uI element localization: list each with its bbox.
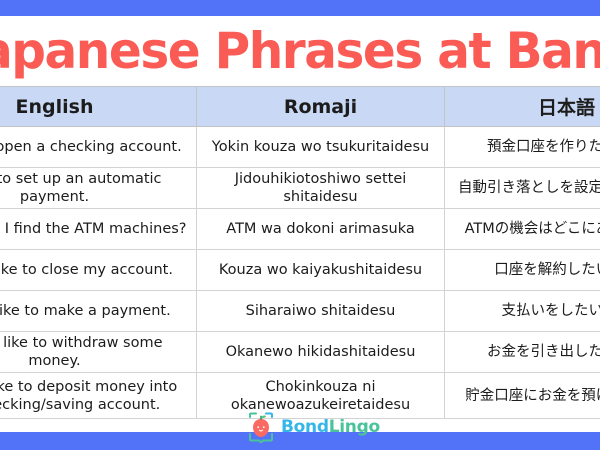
- apple-book-icon: [246, 411, 276, 443]
- phrases-table: English Romaji 日本語 I want to open a chec…: [0, 86, 600, 419]
- cell-japanese: 預金口座を作りたいです: [445, 127, 600, 168]
- cell-english: I would like to deposit money into my ch…: [0, 373, 197, 419]
- cell-japanese: 口座を解約したいです: [445, 250, 600, 291]
- logo-wordmark: BondLingo: [281, 417, 380, 437]
- table-row: I want to open a checking account. Yokin…: [0, 127, 600, 168]
- logo-wordmark-part1: Bond: [281, 417, 329, 437]
- cell-japanese: 自動引き落としを設定したいです: [445, 168, 600, 209]
- column-header-romaji: Romaji: [197, 87, 445, 127]
- cell-romaji: Jidouhikiotoshiwo settei shitaidesu: [197, 168, 445, 209]
- column-header-english: English: [0, 87, 197, 127]
- cell-english: I would like to make a payment.: [0, 291, 197, 332]
- infographic-page: Japanese Phrases at Bank English Romaji …: [0, 0, 600, 450]
- cell-romaji: Kouza wo kaiyakushitaidesu: [197, 250, 445, 291]
- column-header-japanese: 日本語: [445, 87, 600, 127]
- cell-romaji: ATM wa dokoni arimasuka: [197, 209, 445, 250]
- table-row: I want to set up an automatic payment. J…: [0, 168, 600, 209]
- cell-japanese: お金を引き出したいです: [445, 332, 600, 373]
- cell-romaji: Siharaiwo shitaidesu: [197, 291, 445, 332]
- bondlingo-logo: BondLingo: [246, 410, 380, 444]
- page-title: Japanese Phrases at Bank: [0, 23, 600, 79]
- cell-japanese: ATMの機会はどこにありますか: [445, 209, 600, 250]
- logo-wordmark-part2: Lingo: [329, 417, 380, 437]
- table-row: I would like to make a payment. Siharaiw…: [0, 291, 600, 332]
- cell-english: I want to set up an automatic payment.: [0, 168, 197, 209]
- top-brand-bar: [0, 0, 600, 16]
- table-row: I would like to close my account. Kouza …: [0, 250, 600, 291]
- table-header-row: English Romaji 日本語: [0, 87, 600, 127]
- cell-japanese: 貯金口座にお金を預けたいです: [445, 373, 600, 419]
- table-row: I would like to withdraw some money. Oka…: [0, 332, 600, 373]
- cell-romaji: Okanewo hikidashitaidesu: [197, 332, 445, 373]
- page-title-container: Japanese Phrases at Bank: [0, 16, 600, 86]
- cell-english: I would like to withdraw some money.: [0, 332, 197, 373]
- cell-english: I would like to close my account.: [0, 250, 197, 291]
- table-row: Where can I find the ATM machines? ATM w…: [0, 209, 600, 250]
- cell-romaji: Yokin kouza wo tsukuritaidesu: [197, 127, 445, 168]
- cell-english: Where can I find the ATM machines?: [0, 209, 197, 250]
- table-body: I want to open a checking account. Yokin…: [0, 127, 600, 419]
- cell-japanese: 支払いをしたいです: [445, 291, 600, 332]
- cell-english: I want to open a checking account.: [0, 127, 197, 168]
- table-header: English Romaji 日本語: [0, 87, 600, 127]
